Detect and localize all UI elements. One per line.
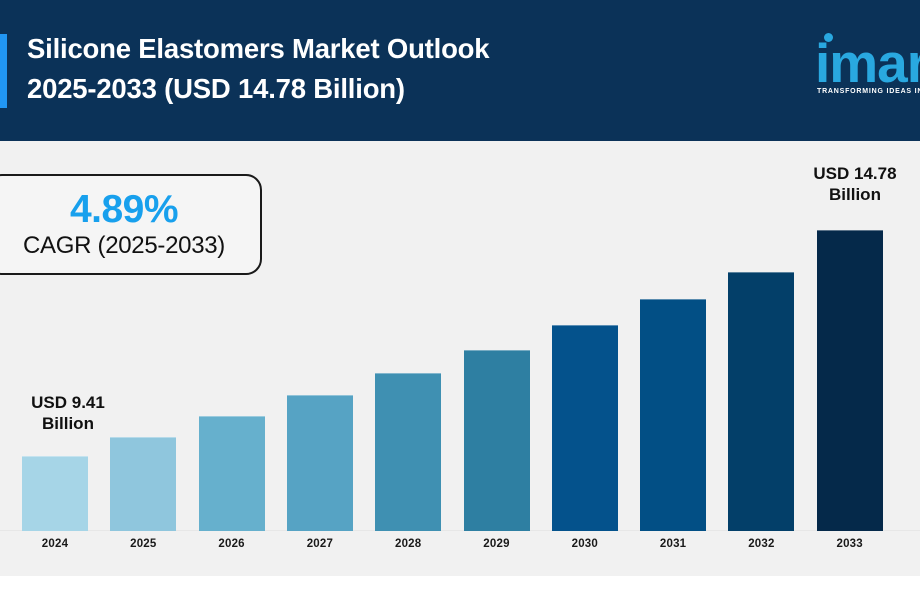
- x-axis-label-2031: 2031: [630, 538, 716, 550]
- start-value-callout: USD 9.41 Billion: [8, 392, 128, 434]
- cagr-value: 4.89%: [70, 189, 178, 231]
- x-axis-label-2028: 2028: [365, 538, 451, 550]
- header-accent-bar: [0, 34, 7, 108]
- bar-column: 2027: [287, 395, 353, 531]
- x-axis-label-2024: 2024: [12, 538, 98, 550]
- header-banner: Silicone Elastomers Market Outlook 2025-…: [0, 0, 920, 141]
- bar-2032: [728, 272, 794, 531]
- bar-column: 2032: [728, 272, 794, 531]
- x-axis-label-2027: 2027: [277, 538, 363, 550]
- bar-2033: [817, 230, 883, 531]
- page-title: Silicone Elastomers Market Outlook 2025-…: [27, 29, 667, 109]
- start-value-line-1: USD 9.41: [8, 392, 128, 413]
- x-axis-label-2026: 2026: [189, 538, 275, 550]
- bar-column: 2024: [22, 456, 88, 531]
- bar-2031: [640, 299, 706, 531]
- footer-strip: [0, 576, 920, 590]
- end-value-line-2: Billion: [795, 184, 915, 205]
- bar-column: 2031: [640, 299, 706, 531]
- bar-2030: [552, 325, 618, 531]
- infographic-page: Silicone Elastomers Market Outlook 2025-…: [0, 0, 920, 590]
- x-axis-label-2032: 2032: [718, 538, 804, 550]
- x-axis-label-2029: 2029: [454, 538, 540, 550]
- bar-column: 2029: [464, 350, 530, 531]
- bar-column: 2025: [110, 437, 176, 531]
- cagr-label: CAGR (2025-2033): [23, 231, 225, 261]
- logo-wordmark: imar: [815, 36, 920, 91]
- end-value-callout: USD 14.78 Billion: [795, 163, 915, 205]
- page-title-line-2: 2025-2033 (USD 14.78 Billion): [27, 69, 667, 109]
- end-value-line-1: USD 14.78: [795, 163, 915, 184]
- logo-tagline: TRANSFORMING IDEAS INTO: [817, 88, 920, 95]
- bar-column: 2026: [199, 416, 265, 531]
- bar-column: 2028: [375, 373, 441, 531]
- bar-2028: [375, 373, 441, 531]
- cagr-callout-box: 4.89% CAGR (2025-2033): [0, 174, 262, 275]
- bar-2025: [110, 437, 176, 531]
- bar-column: 2033: [817, 230, 883, 531]
- bar-column: 2030: [552, 325, 618, 531]
- imarc-logo: imar TRANSFORMING IDEAS INTO: [815, 30, 920, 110]
- bar-2029: [464, 350, 530, 531]
- x-axis-label-2033: 2033: [807, 538, 893, 550]
- bar-2027: [287, 395, 353, 531]
- bar-2026: [199, 416, 265, 531]
- page-title-line-1: Silicone Elastomers Market Outlook: [27, 29, 667, 69]
- start-value-line-2: Billion: [8, 413, 128, 434]
- x-axis-label-2030: 2030: [542, 538, 628, 550]
- x-axis-label-2025: 2025: [100, 538, 186, 550]
- bar-2024: [22, 456, 88, 531]
